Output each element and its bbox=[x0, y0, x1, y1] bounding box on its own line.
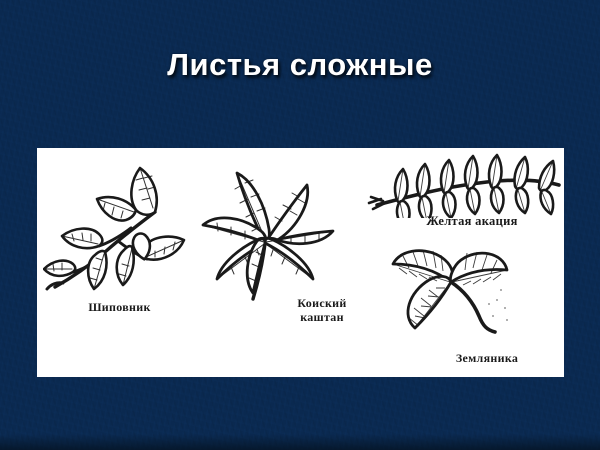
figure-chestnut bbox=[195, 151, 340, 306]
figure-rose bbox=[43, 156, 193, 296]
compound-leaf-pinnate-icon bbox=[43, 156, 193, 296]
figure-caption-acacia: Желтая акация bbox=[382, 214, 562, 228]
figure-caption-rose: Шиповник bbox=[37, 300, 202, 314]
figure-caption-strawberry: Земляника bbox=[407, 351, 564, 365]
compound-leaf-palmate-icon bbox=[195, 151, 340, 306]
page-title: Листья сложные bbox=[0, 47, 600, 83]
figure-strawberry bbox=[385, 230, 535, 345]
slide: Листья сложные bbox=[0, 0, 600, 450]
figure-acacia bbox=[367, 153, 564, 218]
compound-leaf-paripinnate-icon bbox=[367, 153, 564, 218]
illustration-panel: Шиповник bbox=[37, 148, 564, 377]
compound-leaf-trifoliate-icon bbox=[385, 230, 535, 345]
figure-caption-chestnut: Коиский каштан bbox=[272, 296, 372, 324]
